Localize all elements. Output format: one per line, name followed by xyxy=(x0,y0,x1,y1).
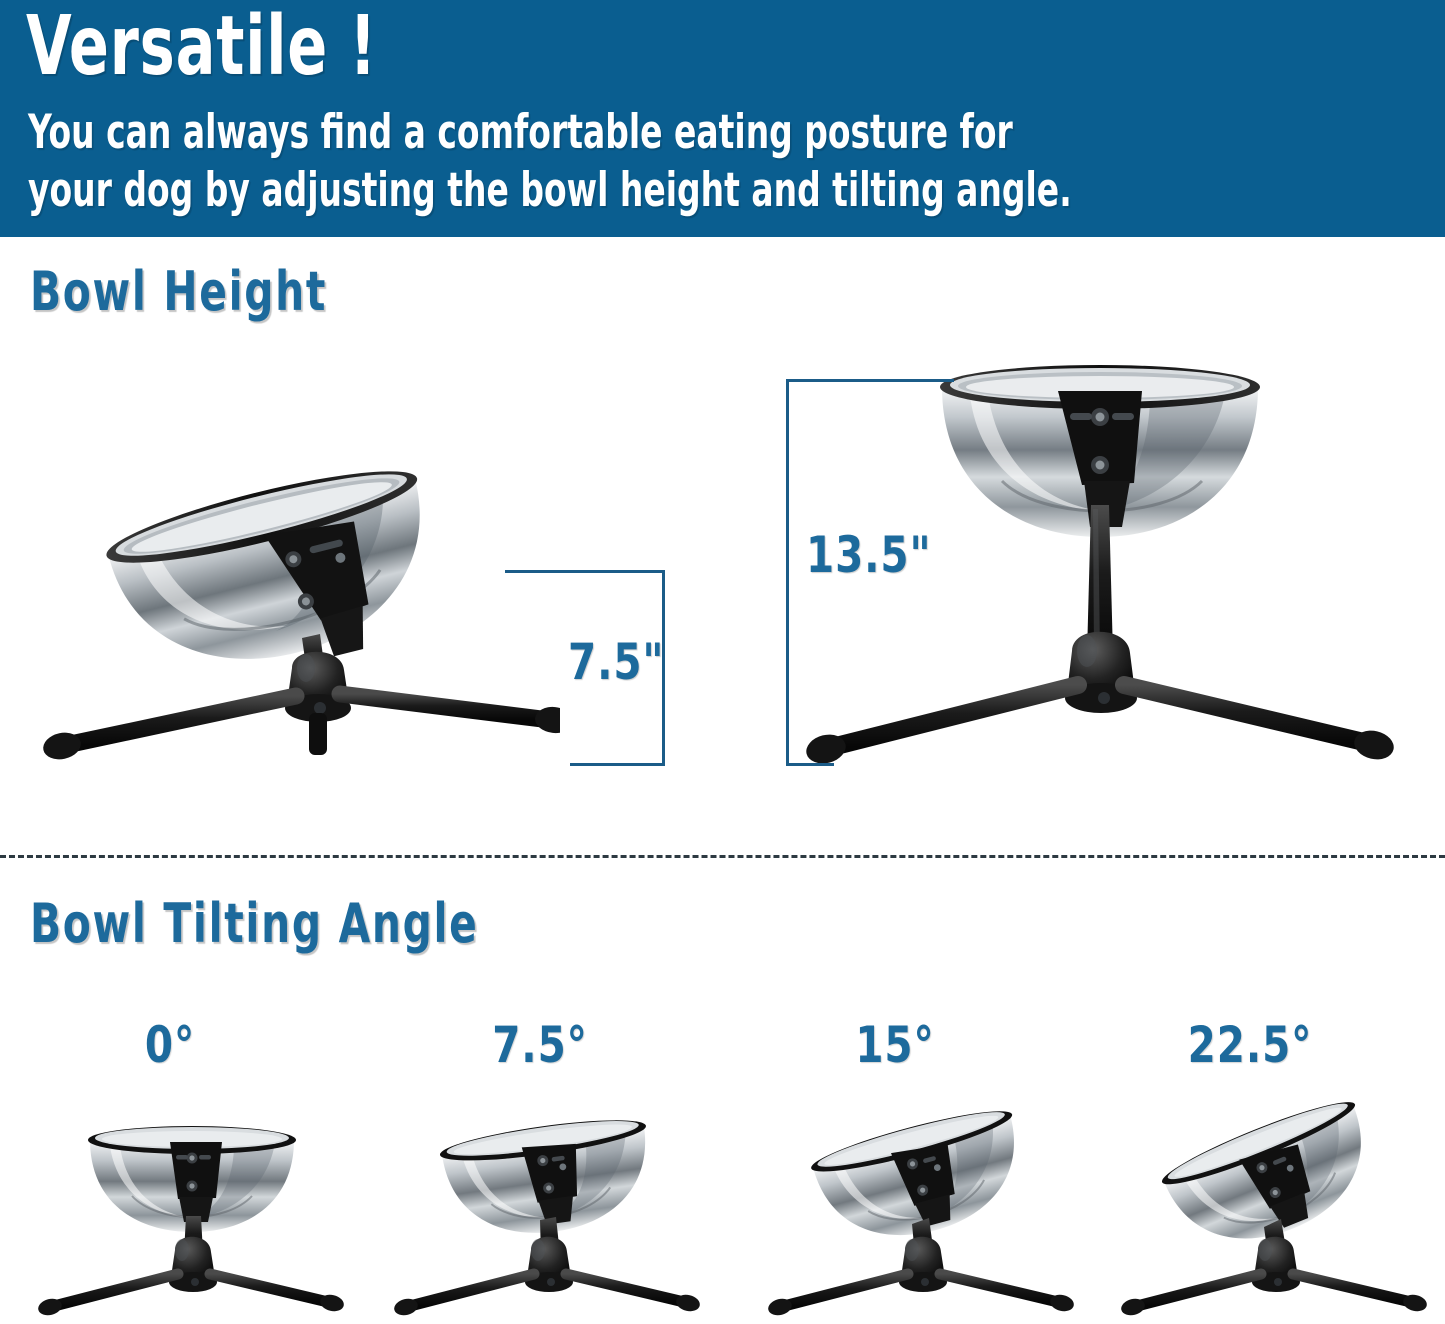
product-image-tilt-0-degree xyxy=(32,1098,352,1324)
section-heading-bowl-tilting-angle: Bowl Tilting Angle xyxy=(30,896,479,952)
dimension-label-13-5-inch: 13.5" xyxy=(806,530,931,580)
section-heading-bowl-height: Bowl Height xyxy=(30,264,327,320)
dimension-tick-bottom xyxy=(786,763,834,766)
header-subtitle-line-1: You can always find a comfortable eating… xyxy=(28,104,1401,162)
header-subtitle-line-2: your dog by adjusting the bowl height an… xyxy=(28,162,1401,220)
dimension-vertical-line xyxy=(786,379,789,766)
header-banner: Versatile ! You can always find a comfor… xyxy=(0,0,1445,237)
angle-label-22-5-degree: 22.5° xyxy=(1151,1018,1349,1072)
product-image-tilt-22-5-degree xyxy=(1115,1098,1435,1324)
angle-label-7-5-degree: 7.5° xyxy=(441,1018,639,1072)
dimension-tick-bottom xyxy=(570,763,665,766)
header-subtitle: You can always find a comfortable eating… xyxy=(28,104,1401,220)
product-image-tilt-7-5-degree xyxy=(388,1098,708,1324)
section-divider xyxy=(0,855,1445,858)
angle-label-15-degree: 15° xyxy=(796,1018,994,1072)
dimension-tick-top xyxy=(786,379,954,382)
page-title: Versatile ! xyxy=(26,4,377,90)
dimension-label-7-5-inch: 7.5" xyxy=(568,637,664,687)
product-image-low-stand xyxy=(20,420,560,780)
dimension-tick-top xyxy=(505,570,665,573)
angle-label-0-degree: 0° xyxy=(71,1018,269,1072)
product-image-tilt-15-degree xyxy=(762,1098,1082,1324)
